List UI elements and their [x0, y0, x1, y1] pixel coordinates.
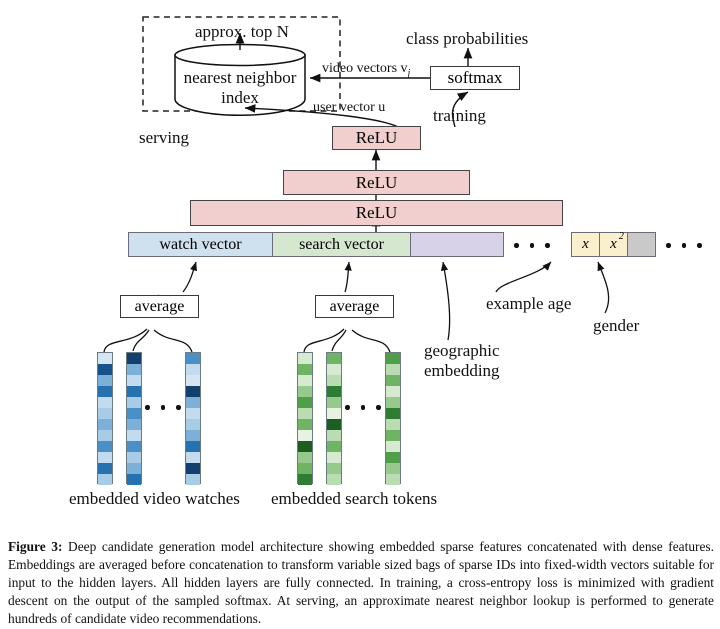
relu-layer-3-label: ReLU [356, 128, 398, 148]
search-token-embedding-cell [298, 397, 312, 408]
video-watch-embedding-cell [186, 441, 200, 452]
geographic-embedding-label: geographic embedding [424, 341, 500, 381]
search-token-embedding-cell [386, 353, 400, 364]
figure-diagram: approx. top N nearest neighbor index ser… [0, 0, 720, 529]
video-watch-embedding-cell [98, 386, 112, 397]
average-box-search-label: average [330, 298, 380, 316]
video-watch-embedding-cell [127, 386, 141, 397]
approx-top-n-label: approx. top N [195, 22, 289, 42]
video-watch-embedding-cell [127, 397, 141, 408]
search-token-embedding-cell [386, 419, 400, 430]
arrow-average-to-watch-vector [183, 262, 196, 292]
video-watch-embedding-cell [186, 419, 200, 430]
search-token-embedding-cell [386, 463, 400, 474]
video-watch-embedding-cell [186, 408, 200, 419]
feature-segment-watch-vector[interactable]: watch vector [128, 232, 273, 257]
video-watch-embedding-cell [186, 397, 200, 408]
search-token-embedding-cell [298, 463, 312, 474]
relu-layer-2[interactable]: ReLU [283, 170, 470, 195]
video-watch-embedding-cell [127, 353, 141, 364]
search-token-embedding-cell [327, 430, 341, 441]
embedded-video-watches-label: embedded video watches [69, 489, 240, 509]
video-vectors-subscript: j [408, 68, 411, 79]
search-token-embedding-cell [327, 353, 341, 364]
watch-columns-ellipsis [145, 405, 181, 410]
fanin-watch-embeddings [104, 329, 192, 352]
search-token-embedding-cell [386, 441, 400, 452]
relu-layer-3[interactable]: ReLU [332, 126, 421, 150]
search-token-embedding-column[interactable] [385, 352, 401, 484]
search-token-embedding-cell [298, 441, 312, 452]
embedded-search-tokens-label: embedded search tokens [271, 489, 437, 509]
arrow-geographic-embedding [443, 262, 450, 340]
video-watch-embedding-cell [98, 419, 112, 430]
video-watch-embedding-cell [98, 397, 112, 408]
nearest-neighbor-index-label: nearest neighbor index [177, 68, 303, 108]
video-watch-embedding-cell [186, 474, 200, 485]
video-watch-embedding-cell [127, 408, 141, 419]
feature-row-ellipsis-left [514, 243, 550, 248]
video-watch-embedding-cell [127, 452, 141, 463]
video-watch-embedding-column[interactable] [97, 352, 113, 484]
search-token-embedding-cell [298, 408, 312, 419]
video-watch-embedding-cell [98, 441, 112, 452]
search-token-embedding-cell [298, 353, 312, 364]
search-token-embedding-cell [327, 452, 341, 463]
search-token-embedding-cell [386, 408, 400, 419]
example-age-label: example age [486, 294, 571, 314]
figure-caption-text: Deep candidate generation model architec… [8, 539, 714, 626]
softmax-label: softmax [448, 68, 503, 88]
search-token-embedding-cell [298, 386, 312, 397]
video-watch-embedding-cell [186, 386, 200, 397]
video-watch-embedding-cell [127, 419, 141, 430]
search-token-embedding-cell [327, 364, 341, 375]
video-watch-embedding-cell [127, 364, 141, 375]
video-watch-embedding-cell [186, 452, 200, 463]
arrow-example-age [496, 262, 551, 292]
gender-label: gender [593, 316, 639, 336]
video-watch-embedding-cell [98, 375, 112, 386]
relu-layer-1-label: ReLU [356, 203, 398, 223]
search-token-embedding-cell [327, 386, 341, 397]
watch-vector-label: watch vector [159, 236, 241, 254]
video-vectors-label: video vectors vj [322, 61, 410, 80]
figure-number: Figure 3: [8, 539, 62, 554]
feature-segment-search-vector[interactable]: search vector [272, 232, 411, 257]
search-token-embedding-cell [386, 430, 400, 441]
average-box-search[interactable]: average [315, 295, 394, 318]
search-token-embedding-cell [327, 474, 341, 485]
fanin-search-embeddings [304, 329, 390, 352]
search-token-embedding-cell [298, 375, 312, 386]
search-token-embedding-cell [298, 419, 312, 430]
video-watch-embedding-cell [186, 353, 200, 364]
search-token-embedding-cell [386, 474, 400, 485]
video-watch-embedding-cell [98, 452, 112, 463]
search-token-embedding-cell [327, 397, 341, 408]
video-watch-embedding-cell [98, 463, 112, 474]
video-watch-embedding-cell [98, 430, 112, 441]
video-watch-embedding-cell [98, 474, 112, 485]
feature-row-ellipsis-right [666, 243, 702, 248]
search-token-embedding-cell [386, 375, 400, 386]
search-token-embedding-column[interactable] [297, 352, 313, 484]
serving-region-label: serving [139, 128, 189, 148]
user-vector-label: user vector u [313, 100, 385, 117]
search-token-embedding-cell [386, 364, 400, 375]
video-watch-embedding-cell [127, 463, 141, 474]
search-token-embedding-cell [327, 408, 341, 419]
video-watch-embedding-cell [98, 408, 112, 419]
feature-segment-example-age-x[interactable]: x [571, 232, 600, 257]
arrow-average-to-search-vector [345, 262, 349, 292]
video-watch-embedding-cell [186, 430, 200, 441]
training-region-label: training [433, 106, 486, 126]
search-vector-label: search vector [299, 236, 384, 254]
search-token-embedding-cell [298, 452, 312, 463]
video-watch-embedding-cell [186, 375, 200, 386]
feature-segment-geographic-embedding[interactable] [410, 232, 504, 257]
search-token-embedding-cell [386, 386, 400, 397]
search-token-embedding-cell [327, 441, 341, 452]
video-watch-embedding-cell [127, 441, 141, 452]
search-columns-ellipsis [345, 405, 381, 410]
feature-segment-example-age-x-squared[interactable]: x2 [599, 232, 628, 257]
search-token-embedding-cell [327, 463, 341, 474]
search-token-embedding-cell [327, 419, 341, 430]
softmax-box[interactable]: softmax [430, 66, 520, 90]
arrow-gender [598, 262, 609, 313]
search-token-embedding-cell [298, 364, 312, 375]
video-watch-embedding-cell [186, 463, 200, 474]
relu-layer-1[interactable]: ReLU [190, 200, 563, 226]
search-token-embedding-cell [386, 452, 400, 463]
video-watch-embedding-column[interactable] [185, 352, 201, 484]
search-token-embedding-cell [298, 474, 312, 485]
search-token-embedding-column[interactable] [326, 352, 342, 484]
video-watch-embedding-cell [127, 430, 141, 441]
example-age-x-label: x [582, 236, 589, 253]
video-watch-embedding-cell [186, 364, 200, 375]
figure-caption: Figure 3: Deep candidate generation mode… [8, 538, 714, 628]
video-watch-embedding-cell [127, 474, 141, 485]
search-token-embedding-cell [386, 397, 400, 408]
video-watch-embedding-cell [127, 375, 141, 386]
average-box-watches[interactable]: average [120, 295, 199, 318]
search-token-embedding-cell [327, 375, 341, 386]
relu-layer-2-label: ReLU [356, 173, 398, 193]
feature-segment-gender[interactable] [627, 232, 656, 257]
class-probabilities-label: class probabilities [406, 29, 528, 49]
search-token-embedding-cell [298, 430, 312, 441]
video-watch-embedding-cell [98, 364, 112, 375]
average-box-watches-label: average [135, 298, 185, 316]
video-watch-embedding-column[interactable] [126, 352, 142, 484]
video-watch-embedding-cell [98, 353, 112, 364]
